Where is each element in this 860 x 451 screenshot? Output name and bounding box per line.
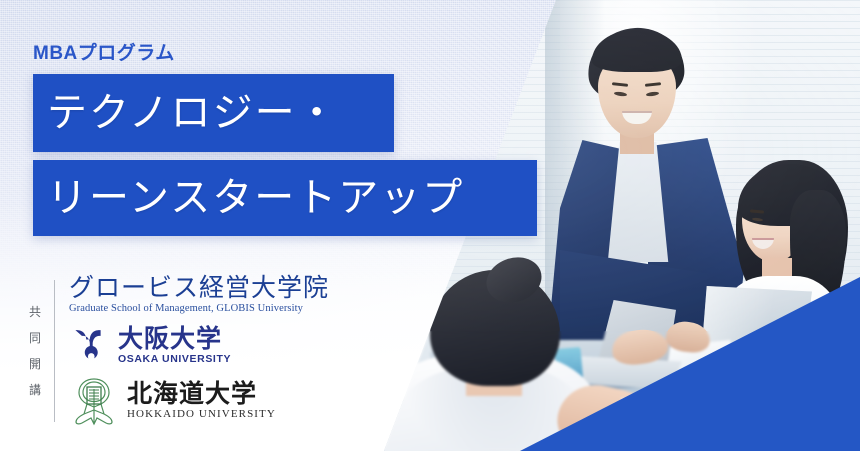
logo-divider: [54, 280, 55, 422]
joint-offering-label: 共 同 開 講: [22, 276, 54, 426]
headline-line-2: リーンスタートアップ: [33, 178, 464, 218]
hokkaido-name-jp: 北海道大学: [127, 381, 276, 406]
logo-globis[interactable]: グロービス経営大学院 Graduate School of Management…: [69, 276, 329, 315]
logo-hokkaido-university[interactable]: 北海道大学 HOKKAIDO UNIVERSITY: [69, 376, 329, 426]
partner-logos: 共 同 開 講 グロービス経営大学院 Graduate School of Ma…: [22, 276, 329, 426]
globis-name-jp: グロービス経営大学院: [69, 276, 329, 302]
osaka-name-jp: 大阪大学: [118, 326, 231, 351]
hokkaido-name-en: HOKKAIDO UNIVERSITY: [127, 408, 276, 421]
joint-label-char-4: 講: [29, 384, 41, 396]
joint-label-char-3: 開: [29, 358, 41, 370]
program-kicker: MBAプログラム: [33, 38, 175, 65]
hokkaido-crest-icon: [69, 376, 119, 426]
mba-program-banner: MBAプログラム テクノロジー・ リーンスタートアップ 共 同 開 講 グロービ…: [0, 0, 860, 451]
logo-osaka-university[interactable]: 大阪大学 OSAKA UNIVERSITY: [69, 326, 329, 366]
headline-bar-2: リーンスタートアップ: [33, 160, 537, 236]
headline-bar-1: テクノロジー・: [33, 74, 394, 152]
joint-label-char-2: 同: [29, 332, 41, 344]
osaka-crest-icon: [69, 328, 111, 364]
headline-line-1: テクノロジー・: [33, 93, 339, 133]
joint-label-char-1: 共: [29, 306, 41, 318]
osaka-name-en: OSAKA UNIVERSITY: [118, 353, 231, 366]
globis-name-en: Graduate School of Management, GLOBIS Un…: [69, 303, 329, 315]
